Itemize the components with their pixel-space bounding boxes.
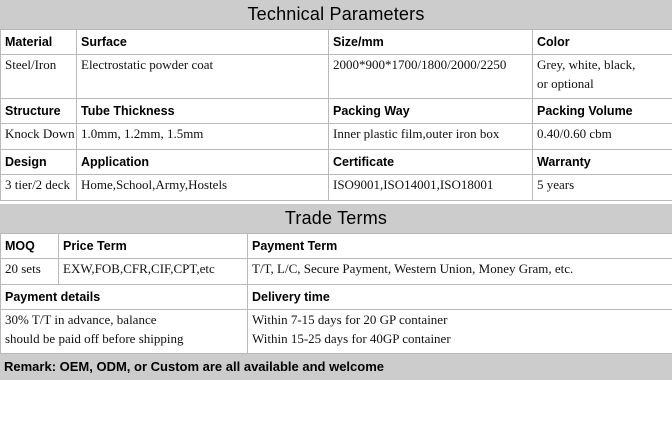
cell-material: Steel/Iron <box>1 55 77 99</box>
cell-structure: Knock Down <box>1 124 77 150</box>
cell-packing-volume: 0.40/0.60 cbm <box>533 124 672 150</box>
section-title-technical-parameters: Technical Parameters <box>0 0 672 29</box>
table-row: Knock Down 1.0mm, 1.2mm, 1.5mm Inner pla… <box>1 124 672 150</box>
col-header-material: Material <box>1 30 77 55</box>
table-header-row: Payment details Delivery time <box>1 285 672 310</box>
cell-payment-term: T/T, L/C, Secure Payment, Western Union,… <box>248 259 672 285</box>
table-header-row: Structure Tube Thickness Packing Way Pac… <box>1 99 672 124</box>
cell-delivery-time: Within 7-15 days for 20 GP container Wit… <box>248 310 672 354</box>
cell-packing-way: Inner plastic film,outer iron box <box>329 124 533 150</box>
table-row: Steel/Iron Electrostatic powder coat 200… <box>1 55 672 99</box>
cell-tube-thickness: 1.0mm, 1.2mm, 1.5mm <box>77 124 329 150</box>
table-header-row: Material Surface Size/mm Color <box>1 30 672 55</box>
col-header-delivery-time: Delivery time <box>248 285 672 310</box>
col-header-color: Color <box>533 30 672 55</box>
remark-bar: Remark: OEM, ODM, or Custom are all avai… <box>0 354 672 380</box>
table-row: 30% T/T in advance, balance should be pa… <box>1 310 672 354</box>
table-row: 20 sets EXW,FOB,CFR,CIF,CPT,etc T/T, L/C… <box>1 259 672 285</box>
table-row: 3 tier/2 deck Home,School,Army,Hostels I… <box>1 175 672 201</box>
cell-price-term: EXW,FOB,CFR,CIF,CPT,etc <box>59 259 248 285</box>
col-header-surface: Surface <box>77 30 329 55</box>
cell-application: Home,School,Army,Hostels <box>77 175 329 201</box>
col-header-design: Design <box>1 150 77 175</box>
spec-sheet: Technical Parameters Material Surface Si… <box>0 0 672 421</box>
col-header-moq: MOQ <box>1 234 59 259</box>
col-header-structure: Structure <box>1 99 77 124</box>
col-header-size: Size/mm <box>329 30 533 55</box>
col-header-certificate: Certificate <box>329 150 533 175</box>
col-header-payment-details: Payment details <box>1 285 248 310</box>
cell-color: Grey, white, black, or optional <box>533 55 672 99</box>
col-header-application: Application <box>77 150 329 175</box>
cell-design: 3 tier/2 deck <box>1 175 77 201</box>
col-header-payment-term: Payment Term <box>248 234 672 259</box>
col-header-packing-way: Packing Way <box>329 99 533 124</box>
cell-warranty: 5 years <box>533 175 672 201</box>
col-header-price-term: Price Term <box>59 234 248 259</box>
cell-surface: Electrostatic powder coat <box>77 55 329 99</box>
cell-moq: 20 sets <box>1 259 59 285</box>
cell-payment-details: 30% T/T in advance, balance should be pa… <box>1 310 248 354</box>
table-header-row: MOQ Price Term Payment Term <box>1 234 672 259</box>
col-header-tube-thickness: Tube Thickness <box>77 99 329 124</box>
section-title-trade-terms: Trade Terms <box>0 204 672 233</box>
cell-size: 2000*900*1700/1800/2000/2250 <box>329 55 533 99</box>
technical-parameters-table: Material Surface Size/mm Color Steel/Iro… <box>0 29 672 201</box>
col-header-warranty: Warranty <box>533 150 672 175</box>
col-header-packing-volume: Packing Volume <box>533 99 672 124</box>
trade-terms-table: MOQ Price Term Payment Term 20 sets EXW,… <box>0 233 672 354</box>
table-header-row: Design Application Certificate Warranty <box>1 150 672 175</box>
cell-certificate: ISO9001,ISO14001,ISO18001 <box>329 175 533 201</box>
